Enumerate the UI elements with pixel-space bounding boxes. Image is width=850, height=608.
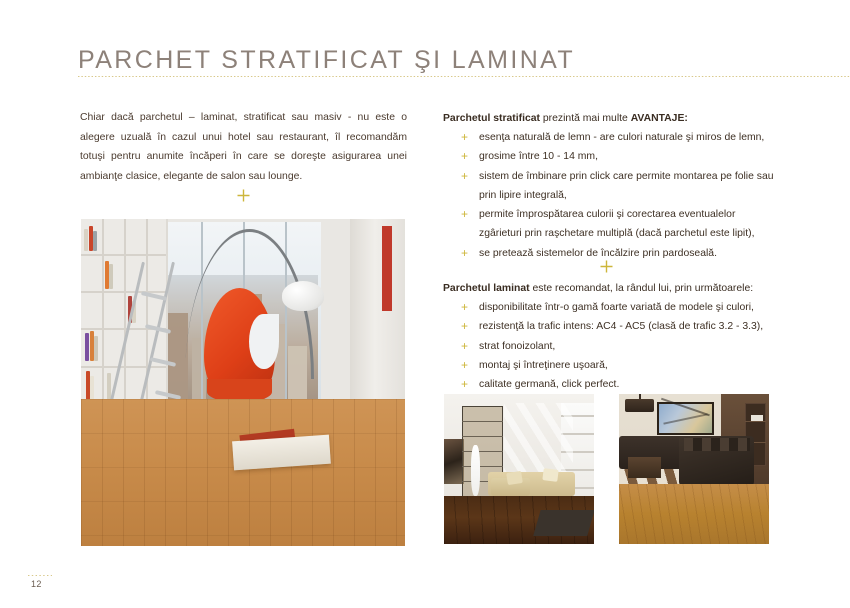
section-heading-laminat-rest: este recomandat, la rândul lui, prin urm…	[530, 283, 754, 294]
section-heading-stratificat-emphasis: AVANTAJE:	[631, 113, 688, 124]
list-item-label: sistem de îmbinare prin click care permi…	[479, 171, 774, 201]
plus-bullet-icon: +	[461, 167, 473, 186]
list-item: + strat fonoizolant,	[461, 337, 779, 356]
interior-photo-3	[619, 394, 769, 544]
plus-bullet-icon: +	[461, 317, 473, 336]
plus-bullet-icon: +	[461, 337, 473, 356]
section-divider-plus-icon	[599, 259, 614, 274]
list-item-label: permite împrospătarea culorii şi corecta…	[479, 209, 754, 239]
plus-bullet-icon: +	[461, 298, 473, 317]
advantages-list-laminat: + disponibilitate într-o gamă foarte var…	[461, 298, 779, 394]
list-item: + rezistenţă la trafic intens: AC4 - AC5…	[461, 317, 779, 336]
list-item: + disponibilitate într-o gamă foarte var…	[461, 298, 779, 317]
list-item-label: calitate germană, click perfect.	[479, 379, 619, 390]
list-item: + montaj şi întreţinere uşoară,	[461, 356, 779, 375]
list-item: + grosime între 10 - 14 mm,	[461, 147, 779, 166]
plus-bullet-icon: +	[461, 205, 473, 224]
plus-bullet-icon: +	[461, 356, 473, 375]
section-heading-stratificat-bold: Parchetul stratificat	[443, 113, 540, 124]
interior-photo-2	[444, 394, 594, 544]
footer-divider-rule	[28, 575, 52, 576]
plus-bullet-icon: +	[461, 375, 473, 394]
list-item: + calitate germană, click perfect.	[461, 375, 779, 394]
plus-bullet-icon: +	[461, 244, 473, 263]
page-number: 12	[31, 579, 42, 589]
list-item-label: strat fonoizolant,	[479, 341, 555, 352]
plus-bullet-icon: +	[461, 147, 473, 166]
decorative-plus-icon	[236, 188, 251, 203]
main-interior-photo	[81, 219, 405, 546]
page-title: PARCHET STRATIFICAT ŞI LAMINAT	[78, 46, 575, 75]
intro-paragraph: Chiar dacă parchetul – laminat, stratifi…	[80, 108, 407, 186]
plus-bullet-icon: +	[461, 128, 473, 147]
document-page: PARCHET STRATIFICAT ŞI LAMINAT Chiar dac…	[0, 0, 850, 608]
list-item: + sistem de îmbinare prin click care per…	[461, 167, 779, 206]
list-item: + se pretează sistemelor de încălzire pr…	[461, 244, 779, 263]
list-item-label: esenţa naturală de lemn - are culori nat…	[479, 132, 764, 143]
list-item-label: grosime între 10 - 14 mm,	[479, 151, 598, 162]
list-item-label: montaj şi întreţinere uşoară,	[479, 360, 608, 371]
list-item: + permite împrospătarea culorii şi corec…	[461, 205, 779, 244]
section-heading-laminat-bold: Parchetul laminat	[443, 283, 530, 294]
section-heading-stratificat: Parchetul stratificat prezintă mai multe…	[443, 111, 688, 127]
section-heading-stratificat-rest: prezintă mai multe	[540, 113, 631, 124]
list-item: + esenţa naturală de lemn - are culori n…	[461, 128, 779, 147]
advantages-list-stratificat: + esenţa naturală de lemn - are culori n…	[461, 128, 779, 263]
title-divider-rule	[78, 76, 850, 77]
section-heading-laminat: Parchetul laminat este recomandat, la râ…	[443, 281, 753, 297]
list-item-label: rezistenţă la trafic intens: AC4 - AC5 (…	[479, 321, 763, 332]
list-item-label: disponibilitate într-o gamă foarte varia…	[479, 302, 754, 313]
list-item-label: se pretează sistemelor de încălzire prin…	[479, 248, 717, 259]
